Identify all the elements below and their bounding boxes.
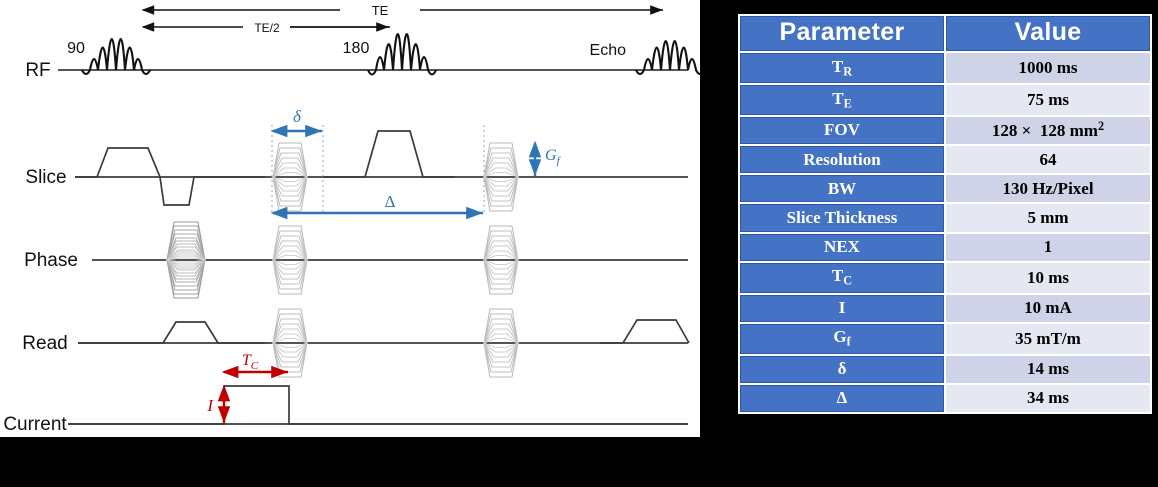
channel-label-slice: Slice — [25, 167, 66, 188]
table-row: BW130 Hz/Pixel — [740, 175, 1150, 202]
channel-label-current: Current — [3, 414, 67, 435]
table-row: Gf35 mT/m — [740, 324, 1150, 354]
param-value-cell: 10 mA — [946, 295, 1150, 322]
param-name-cell: NEX — [740, 234, 944, 261]
param-name-cell: Gf — [740, 324, 944, 354]
param-name-cell: TC — [740, 263, 944, 293]
param-name-cell: δ — [740, 356, 944, 383]
param-value-cell: 34 ms — [946, 385, 1150, 412]
table-body: TR1000 msTE75 msFOV128 × 128 mm2Resoluti… — [740, 53, 1150, 412]
table-header-row: Parameter Value — [740, 16, 1150, 51]
param-value-cell: 1000 ms — [946, 53, 1150, 83]
param-name-cell: Resolution — [740, 146, 944, 173]
param-value-cell: 5 mm — [946, 204, 1150, 231]
parameter-table-wrap: Parameter Value TR1000 msTE75 msFOV128 ×… — [738, 14, 1152, 414]
param-name-cell: I — [740, 295, 944, 322]
param-name-cell: Δ — [740, 385, 944, 412]
big-delta-label: Δ — [385, 192, 396, 211]
rf-90-label: 90 — [67, 40, 85, 57]
param-value-cell: 128 × 128 mm2 — [946, 117, 1150, 144]
channel-label-read: Read — [22, 333, 67, 354]
param-value-cell: 130 Hz/Pixel — [946, 175, 1150, 202]
table-row: NEX1 — [740, 234, 1150, 261]
header-parameter: Parameter — [740, 16, 944, 51]
table-row: TR1000 ms — [740, 53, 1150, 83]
table-row: Resolution64 — [740, 146, 1150, 173]
param-value-cell: 75 ms — [946, 85, 1150, 115]
pulse-sequence-diagram: TE TE/2 RF 90 180 Echo — [0, 0, 700, 437]
channel-label-phase: Phase — [24, 250, 78, 271]
param-value-cell: 10 ms — [946, 263, 1150, 293]
param-name-cell: TR — [740, 53, 944, 83]
param-value-cell: 1 — [946, 234, 1150, 261]
table-row: Δ34 ms — [740, 385, 1150, 412]
header-value: Value — [946, 16, 1150, 51]
table-row: TC10 ms — [740, 263, 1150, 293]
table-row: δ14 ms — [740, 356, 1150, 383]
te-arrow-label: TE — [372, 3, 389, 18]
rf-echo-label: Echo — [590, 42, 627, 59]
param-name-cell: TE — [740, 85, 944, 115]
table-row: TE75 ms — [740, 85, 1150, 115]
param-name-cell: FOV — [740, 117, 944, 144]
param-name-cell: BW — [740, 175, 944, 202]
figure-root: TE TE/2 RF 90 180 Echo — [0, 0, 1158, 487]
channel-label-rf: RF — [25, 60, 50, 81]
param-value-cell: 14 ms — [946, 356, 1150, 383]
table-row: FOV128 × 128 mm2 — [740, 117, 1150, 144]
param-value-cell: 35 mT/m — [946, 324, 1150, 354]
param-name-cell: Slice Thickness — [740, 204, 944, 231]
parameter-table: Parameter Value TR1000 msTE75 msFOV128 ×… — [738, 14, 1152, 414]
param-value-cell: 64 — [946, 146, 1150, 173]
te-half-arrow-label: TE/2 — [254, 21, 280, 35]
delta-label: δ — [293, 107, 302, 126]
table-row: Slice Thickness5 mm — [740, 204, 1150, 231]
table-row: I10 mA — [740, 295, 1150, 322]
rf-180-label: 180 — [343, 40, 370, 57]
